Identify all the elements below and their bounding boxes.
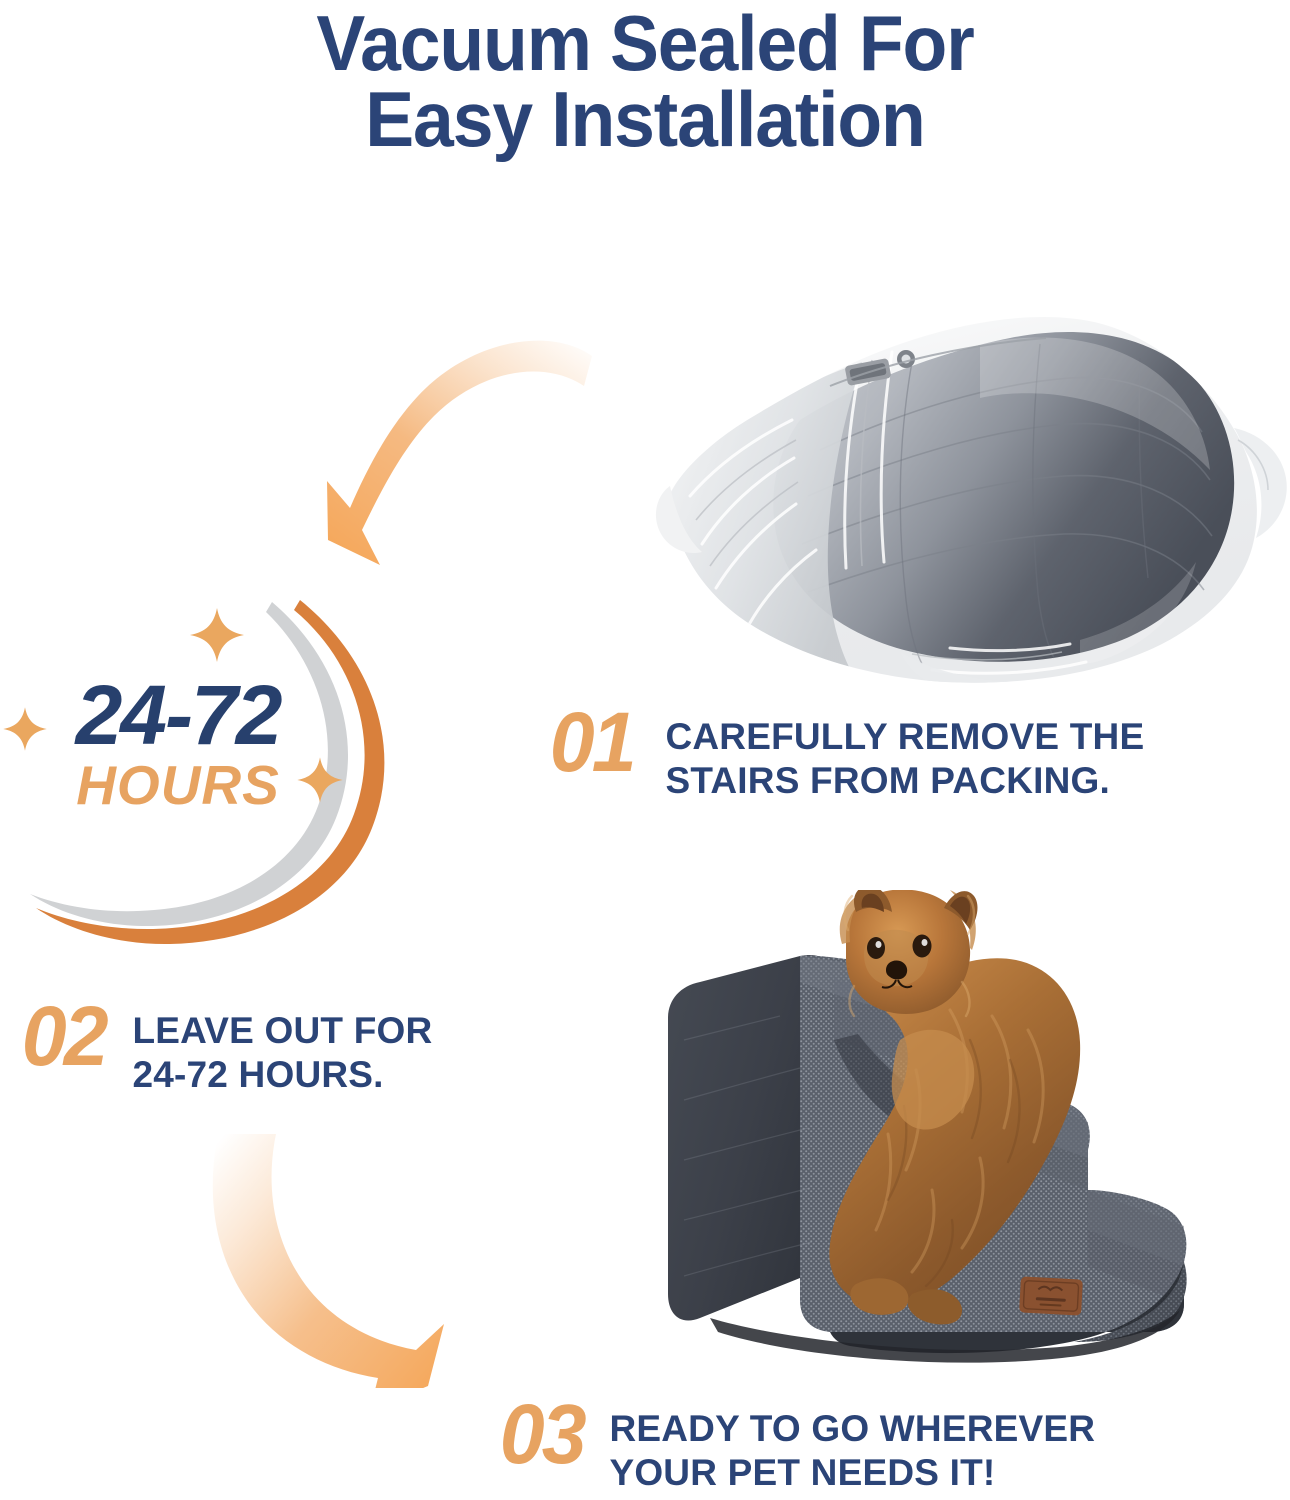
step-01-text: CAREFULLY REMOVE THE STAIRS FROM PACKING… <box>665 706 1144 802</box>
title-line-2: Easy Installation <box>39 82 1252 158</box>
step-02-number: 02 <box>22 1000 106 1072</box>
step-02-text: LEAVE OUT FOR 24-72 HOURS. <box>132 1000 432 1096</box>
step-02: 02 LEAVE OUT FOR 24-72 HOURS. <box>20 1000 432 1096</box>
title-line-1: Vacuum Sealed For <box>39 6 1252 82</box>
step-02-line-2: 24-72 HOURS. <box>132 1053 432 1097</box>
brand-label-icon <box>1019 1276 1083 1315</box>
step-03-line-2: YOUR PET NEEDS IT! <box>609 1451 1095 1495</box>
sparkle-star-icon <box>186 604 248 666</box>
curved-arrow-down-left-icon <box>300 318 600 573</box>
step-01: 01 CAREFULLY REMOVE THE STAIRS FROM PACK… <box>548 706 1144 802</box>
step-03-number: 03 <box>500 1398 584 1470</box>
step-01-line-2: STAIRS FROM PACKING. <box>665 759 1144 803</box>
badge-duration-unit: HOURS <box>38 758 318 813</box>
step-03-line-1: READY TO GO WHEREVER <box>609 1407 1095 1451</box>
curved-arrow-down-right-icon <box>180 1128 520 1393</box>
badge-text-group: 24-72 HOURS <box>38 674 318 813</box>
step-03: 03 READY TO GO WHEREVER YOUR PET NEEDS I… <box>498 1398 1095 1494</box>
badge-duration-number: 24-72 <box>38 674 318 756</box>
step-03-text: READY TO GO WHEREVER YOUR PET NEEDS IT! <box>609 1398 1095 1494</box>
infographic-page: Vacuum Sealed For Easy Installation <box>0 0 1290 1500</box>
pet-stairs-with-dog-photo <box>650 890 1290 1380</box>
step-02-line-1: LEAVE OUT FOR <box>132 1009 432 1053</box>
step-01-line-1: CAREFULLY REMOVE THE <box>665 715 1144 759</box>
vacuum-sealed-package-photo <box>650 300 1290 700</box>
duration-badge: 24-72 HOURS <box>0 596 430 946</box>
page-title: Vacuum Sealed For Easy Installation <box>0 6 1290 157</box>
step-01-number: 01 <box>550 706 634 778</box>
